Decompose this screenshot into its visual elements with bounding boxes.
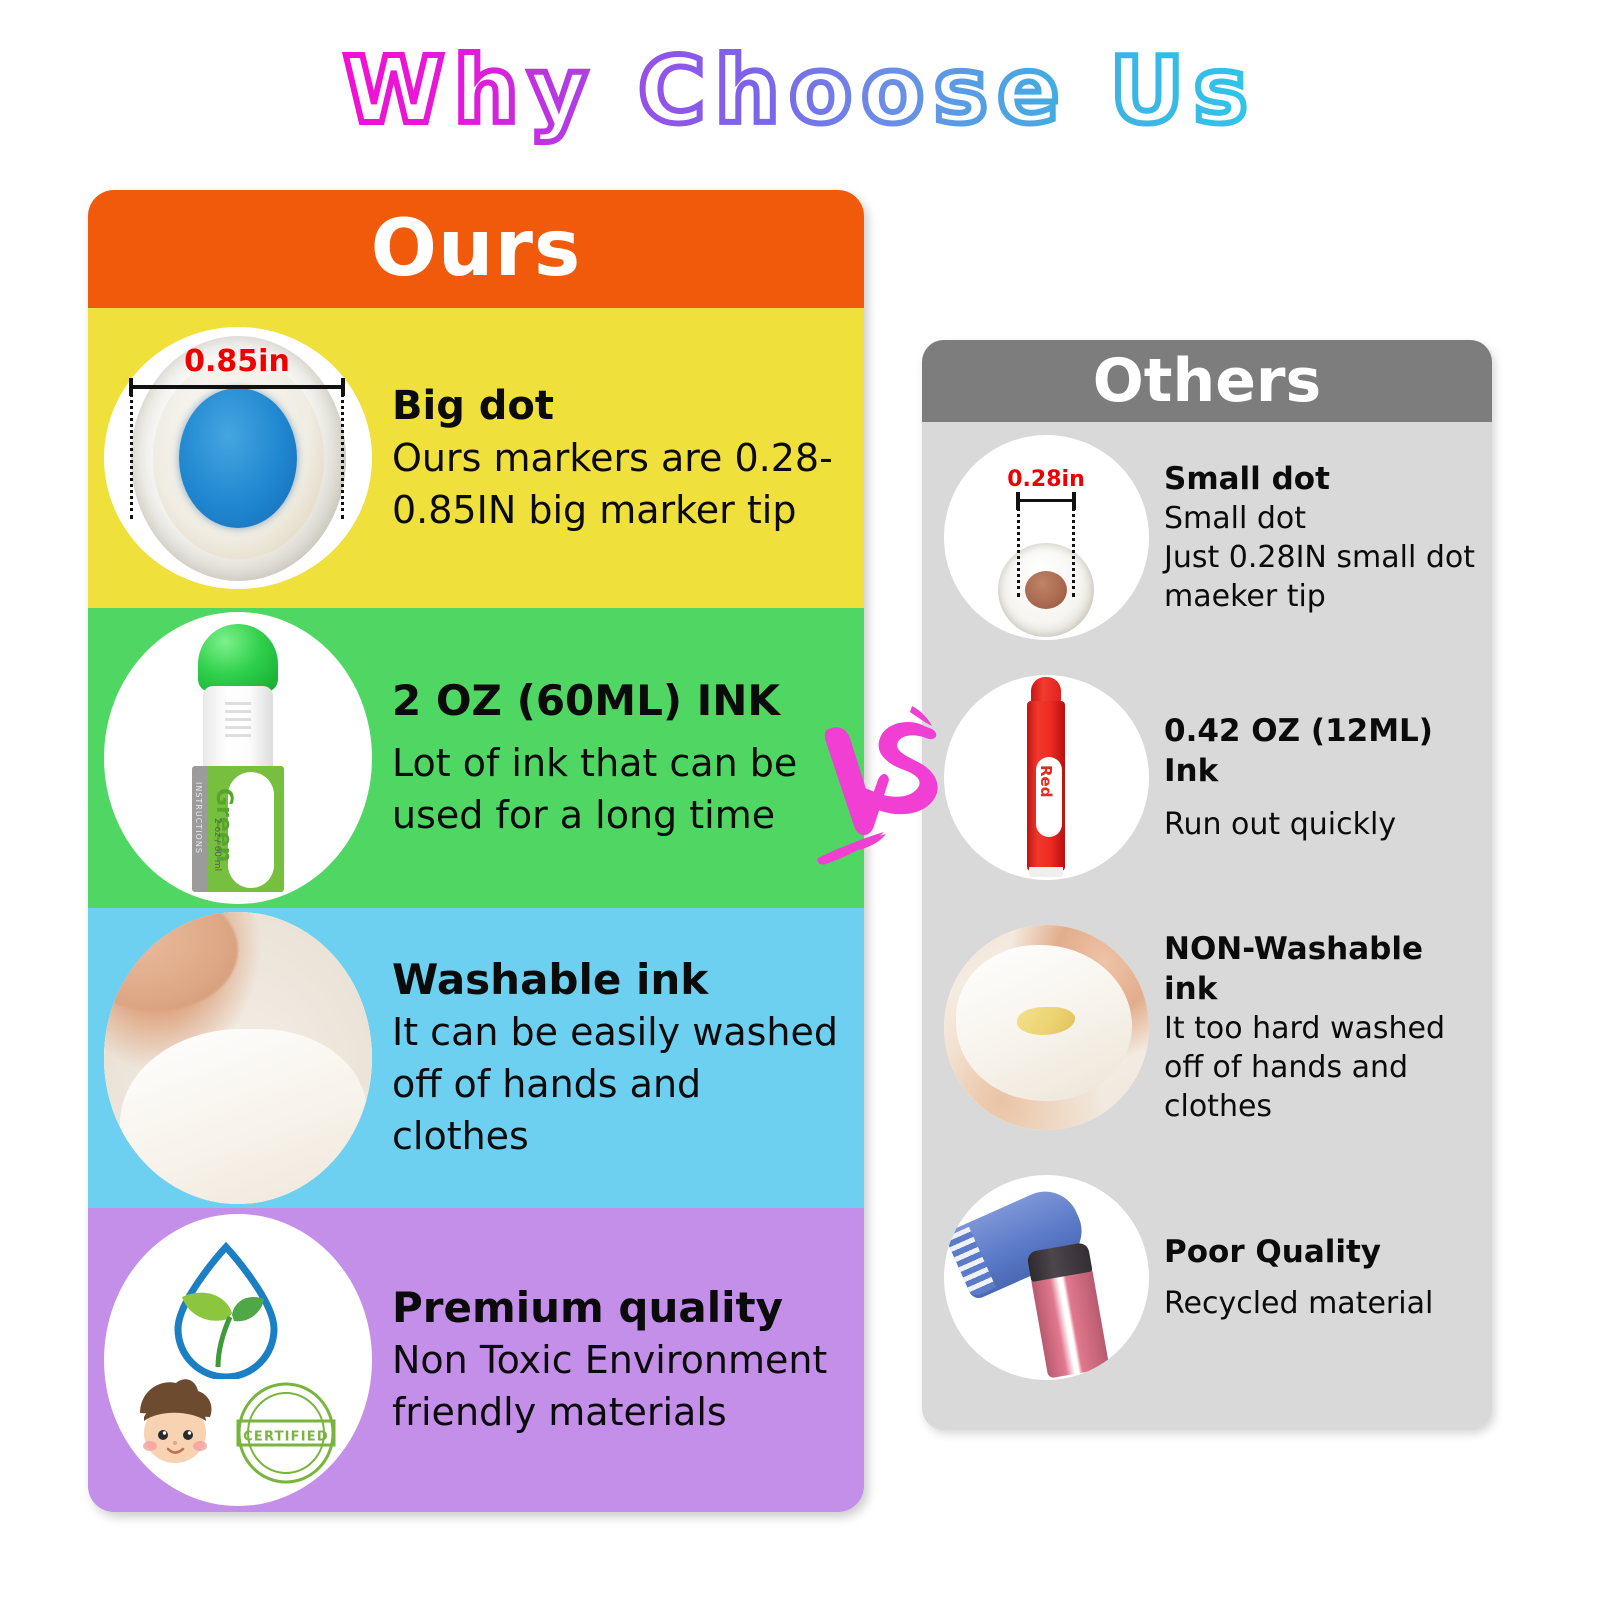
cloth-hand-graphic: [104, 912, 372, 1204]
red-marker-photo: Red: [944, 675, 1149, 880]
eco-certified-icons: CERTIFIED: [104, 1214, 372, 1506]
small-dot-body: Small dot Just 0.28IN small dot maeker t…: [1164, 499, 1486, 616]
ours-card: Ours 0.85in Big dot Ours markers are 0.2…: [88, 190, 864, 1512]
others-ink-volume-body: Run out quickly: [1164, 805, 1486, 844]
non-washable-body: It too hard washed off of hands and clot…: [1164, 1009, 1486, 1126]
red-marker-media: Red: [928, 675, 1164, 880]
green-bottle-media: INSTRUCTIONS Green 2 oz / 60 ml: [88, 612, 388, 904]
bottle-body: INSTRUCTIONS Green 2 oz / 60 ml: [192, 766, 284, 892]
others-row-poor-quality: Poor Quality Recycled material: [922, 1152, 1492, 1402]
blue-ink-dot: [179, 388, 297, 528]
premium-quality-copy: Premium quality Non Toxic Environment fr…: [388, 1282, 864, 1438]
small-dot-dimension-annotation: 0.28in: [982, 467, 1110, 502]
page-title-text: Why Choose Us: [343, 38, 1257, 144]
marker-foot: [1029, 867, 1063, 877]
poor-quality-body: Recycled material: [1164, 1284, 1486, 1323]
ink-volume-copy: 2 OZ (60ML) INK Lot of ink that can be u…: [388, 675, 864, 841]
big-dot-dimension-annotation: 0.85in: [106, 345, 368, 389]
ours-row-premium-quality: CERTIFIED Premium quality Non Toxic Envi…: [88, 1208, 864, 1512]
others-row-non-washable: NON-Washable ink It too hard washed off …: [922, 902, 1492, 1152]
non-washable-media: [928, 925, 1164, 1130]
small-tip-body: [998, 543, 1094, 637]
ours-card-header: Ours: [88, 190, 864, 308]
certified-stamp-icon: CERTIFIED: [234, 1381, 338, 1489]
others-header-label: Others: [1093, 350, 1321, 412]
premium-quality-media: CERTIFIED: [88, 1214, 388, 1506]
dimension-line: [129, 385, 345, 389]
big-dot-media: 0.85in: [88, 327, 388, 589]
big-dot-dimension-label: 0.85in: [106, 345, 368, 379]
water-drop-leaf-icon: [156, 1239, 296, 1379]
poor-quality-heading: Poor Quality: [1164, 1232, 1486, 1272]
bottle-cap: [198, 624, 278, 692]
ours-row-ink-volume: INSTRUCTIONS Green 2 oz / 60 ml 2 OZ (60…: [88, 608, 864, 908]
non-washable-heading: NON-Washable ink: [1164, 929, 1486, 1009]
bottle-volume-text: 2 oz / 60 ml: [212, 818, 222, 871]
dimension-tick-right: [341, 387, 344, 519]
washable-body: It can be easily washed off of hands and…: [392, 1006, 850, 1162]
ours-row-big-dot: 0.85in Big dot Ours markers are 0.28-0.8…: [88, 308, 864, 608]
vs-badge: [812, 698, 952, 874]
washable-cloth-hand-photo: [104, 912, 372, 1204]
small-dot-copy: Small dot Small dot Just 0.28IN small do…: [1164, 459, 1492, 616]
others-row-ink-volume: Red 0.42 OZ (12ML) Ink Run out quickly: [922, 652, 1492, 902]
broken-markers-graphic: [951, 1182, 1141, 1372]
premium-quality-body: Non Toxic Environment friendly materials: [392, 1334, 850, 1438]
others-card: Others 0.28in Small dot: [922, 340, 1492, 1430]
dimension-tick-right-small: [1072, 501, 1075, 597]
washable-copy: Washable ink It can be easily washed off…: [388, 954, 864, 1162]
child-face-icon: [126, 1377, 222, 1477]
big-dot-copy: Big dot Ours markers are 0.28-0.85IN big…: [388, 380, 864, 536]
dimension-tick-left-small: [1017, 501, 1020, 597]
pink-marker-body: [1030, 1265, 1109, 1378]
brown-ink-dot: [1025, 571, 1067, 609]
stained-cloth-graphic: [944, 925, 1149, 1130]
bottle-instructions-text: INSTRUCTIONS: [194, 782, 203, 854]
vs-badge-svg: [812, 698, 952, 874]
poor-quality-media: [928, 1175, 1164, 1380]
non-washable-copy: NON-Washable ink It too hard washed off …: [1164, 929, 1492, 1126]
small-dot-heading: Small dot: [1164, 459, 1486, 499]
washable-heading: Washable ink: [392, 954, 850, 1006]
washable-media: [88, 912, 388, 1204]
ours-row-washable: Washable ink It can be easily washed off…: [88, 908, 864, 1208]
others-row-small-dot: 0.28in Small dot Small dot Just 0.28IN s…: [922, 422, 1492, 652]
page-title: Why Choose Us: [0, 38, 1600, 148]
ink-volume-body: Lot of ink that can be used for a long t…: [392, 737, 850, 841]
big-dot-heading: Big dot: [392, 380, 850, 432]
marker-barrel: Red: [1027, 701, 1065, 871]
red-marker-graphic: Red: [1024, 677, 1068, 877]
ours-header-label: Ours: [371, 209, 582, 289]
small-dot-marker-tip-photo: [944, 435, 1149, 640]
stained-cloth-hand-photo: [944, 925, 1149, 1130]
green-dauber-bottle-graphic: INSTRUCTIONS Green 2 oz / 60 ml: [184, 624, 292, 892]
big-dot-body: Ours markers are 0.28-0.85IN big marker …: [392, 432, 850, 536]
green-dauber-bottle-photo: INSTRUCTIONS Green 2 oz / 60 ml: [104, 612, 372, 904]
ink-volume-heading: 2 OZ (60ML) INK: [392, 675, 850, 727]
page-title-svg: Why Choose Us: [200, 38, 1400, 148]
dimension-tick-left: [130, 387, 133, 519]
certified-stamp-label: CERTIFIED: [243, 1430, 329, 1445]
others-card-header: Others: [922, 340, 1492, 422]
eco-icon-cluster: CERTIFIED: [118, 1235, 358, 1485]
marker-tip: [1031, 677, 1061, 703]
marker-color-name: Red: [1037, 765, 1055, 797]
small-dot-dimension-label: 0.28in: [982, 467, 1110, 493]
dimension-line-small: [1016, 499, 1076, 502]
others-ink-volume-copy: 0.42 OZ (12ML) Ink Run out quickly: [1164, 711, 1492, 844]
broken-markers-photo: [944, 1175, 1149, 1380]
bottle-neck: [203, 686, 273, 772]
poor-quality-copy: Poor Quality Recycled material: [1164, 1232, 1492, 1323]
others-ink-volume-heading: 0.42 OZ (12ML) Ink: [1164, 711, 1486, 791]
small-dot-media: 0.28in: [928, 435, 1164, 640]
premium-quality-heading: Premium quality: [392, 1282, 850, 1334]
